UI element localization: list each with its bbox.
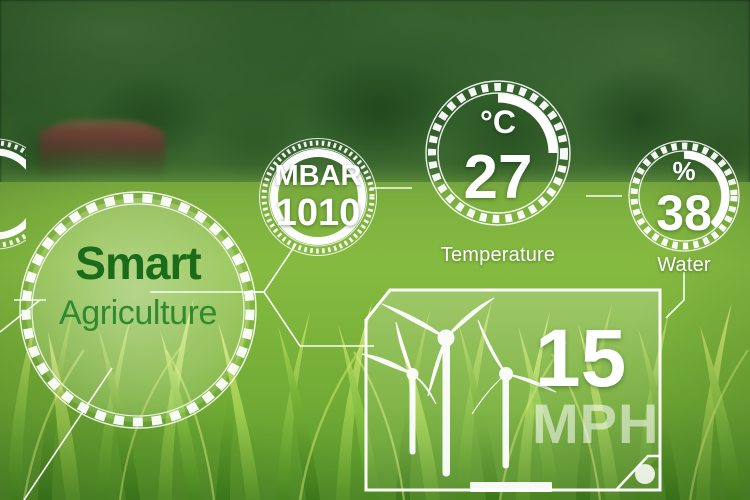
brand-subtitle: Agriculture <box>28 296 248 330</box>
wind-panel[interactable] <box>358 278 688 500</box>
brand-title: Smart <box>38 240 238 286</box>
wind-panel-base-bar <box>470 482 552 492</box>
gauge-temperature-label: Temperature <box>409 244 587 267</box>
wind-speed-value: 15 <box>535 318 626 400</box>
gauge-pressure-value: 1010 <box>255 192 381 235</box>
wind-panel-node-dot <box>635 464 655 484</box>
gauge-water-unit: % <box>616 156 750 187</box>
partial-gauge-left[interactable] <box>0 134 26 254</box>
gauge-temperature-unit: °C <box>409 104 587 141</box>
gauge-water-value: 38 <box>616 184 750 242</box>
wind-speed-unit: MPH <box>532 396 659 452</box>
hud-overlay: Smart Agriculture MBAR 1010 °C 27 Temper… <box>0 0 750 500</box>
gauge-pressure-unit: MBAR <box>255 160 381 193</box>
gauge-temperature-value: 27 <box>409 142 587 213</box>
gauge-water-label: Water <box>616 254 750 277</box>
smart-agriculture-scene: Smart Agriculture MBAR 1010 °C 27 Temper… <box>0 0 750 500</box>
